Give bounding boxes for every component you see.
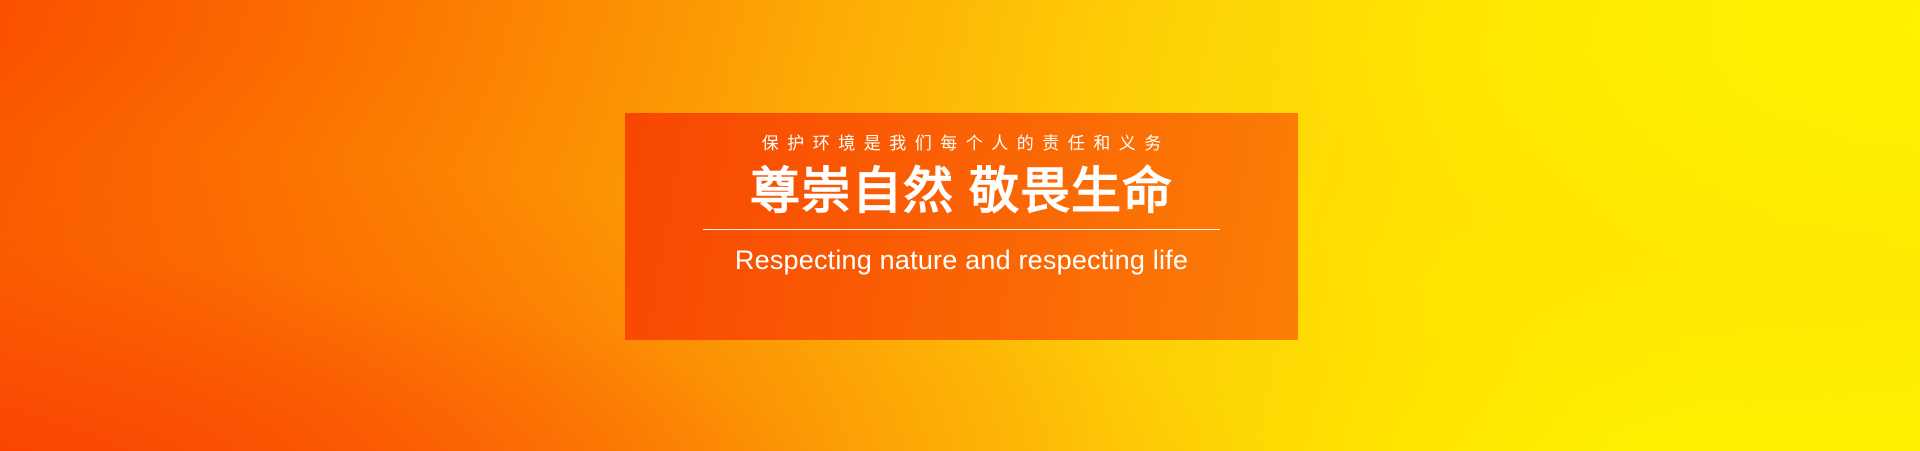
environment-slogan-banner: 保护环境是我们每个人的责任和义务 尊崇自然 敬畏生命 Respecting na…: [0, 0, 1920, 451]
chinese-tagline: 保护环境是我们每个人的责任和义务: [753, 135, 1170, 152]
headline-divider: [703, 229, 1220, 230]
english-tagline: Respecting nature and respecting life: [735, 246, 1188, 276]
slogan-panel: 保护环境是我们每个人的责任和义务 尊崇自然 敬畏生命 Respecting na…: [625, 113, 1298, 340]
chinese-headline: 尊崇自然 敬畏生命: [750, 165, 1173, 218]
